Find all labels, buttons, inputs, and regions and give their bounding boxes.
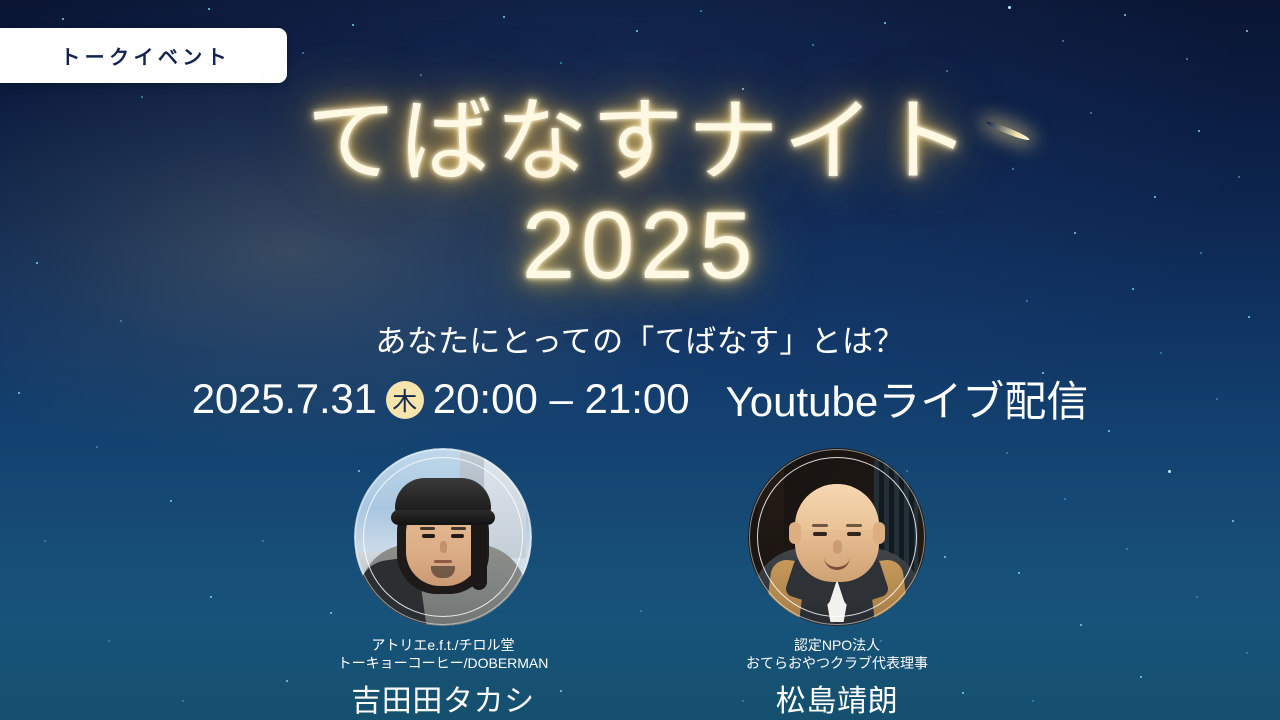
speaker-affiliation-line1: アトリエe.f.t./チロル堂 [338, 637, 549, 655]
event-title: てばなすナイト 2025 [0, 96, 1280, 294]
event-subtitle: あなたにとっての「てばなす」とは？ [0, 316, 1280, 361]
event-title-line2: 2025 [0, 198, 1280, 294]
day-of-week-badge: 木 [386, 381, 424, 419]
event-time: 20:00 – 21:00 [433, 375, 690, 423]
avatar [748, 448, 926, 626]
speaker-name: 吉田田タカシ [351, 676, 535, 720]
speaker-list: アトリエe.f.t./チロル堂 トーキョーコーヒー/DOBERMAN 吉田田タカ… [0, 448, 1280, 720]
speaker-affiliation-line2: おてらおやつクラブ代表理事 [746, 655, 928, 673]
event-date: 2025.7.31 [192, 375, 377, 423]
event-channel: Youtubeライブ配信 [726, 368, 1089, 429]
speaker-card: アトリエe.f.t./チロル堂 トーキョーコーヒー/DOBERMAN 吉田田タカ… [318, 448, 568, 720]
speaker-affiliation: アトリエe.f.t./チロル堂 トーキョーコーヒー/DOBERMAN [338, 637, 549, 672]
event-title-line1: てばなすナイト [0, 96, 1280, 188]
speaker-affiliation: 認定NPO法人 おてらおやつクラブ代表理事 [746, 637, 928, 672]
category-badge-label: トークイベント [56, 41, 231, 70]
category-badge: トークイベント [0, 28, 287, 83]
speaker-name: 松島靖朗 [776, 676, 898, 720]
speaker-photo-yoshidada [354, 448, 532, 626]
speaker-affiliation-line1: 認定NPO法人 [746, 637, 928, 655]
speaker-card: 認定NPO法人 おてらおやつクラブ代表理事 松島靖朗 [712, 448, 962, 720]
avatar [354, 448, 532, 626]
event-datetime-row: 2025.7.31 木 20:00 – 21:00 Youtubeライブ配信 [0, 368, 1280, 429]
speaker-affiliation-line2: トーキョーコーヒー/DOBERMAN [338, 655, 549, 673]
event-poster: トークイベント てばなすナイト 2025 あなたにとっての「てばなす」とは？ 2… [0, 0, 1280, 720]
speaker-photo-matsushima [748, 448, 926, 626]
